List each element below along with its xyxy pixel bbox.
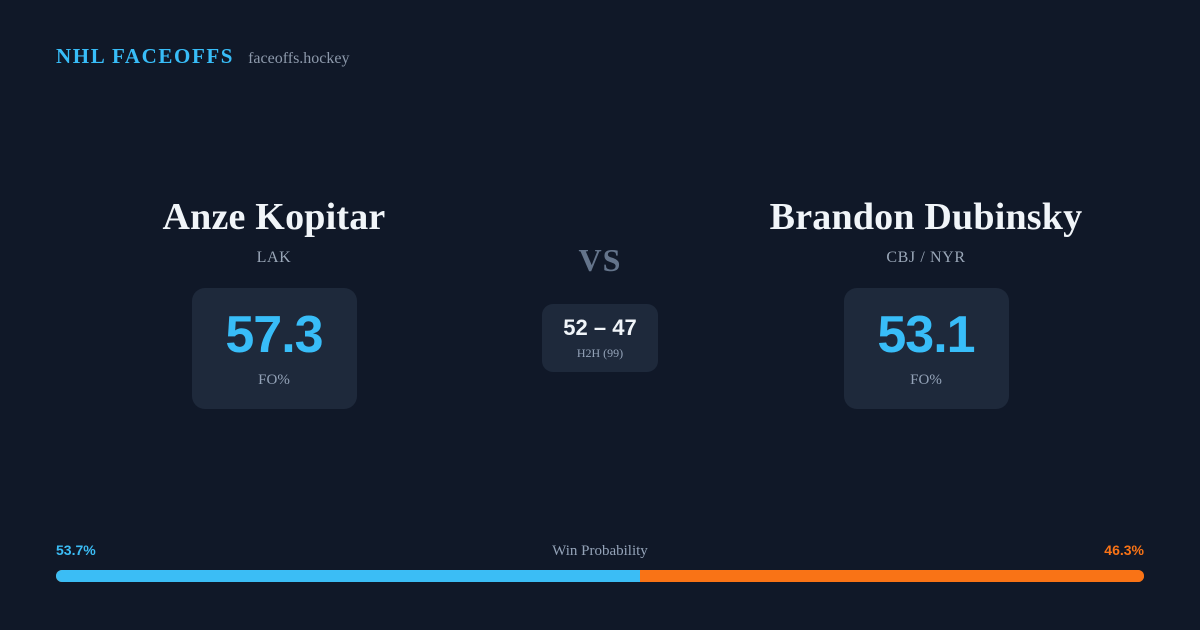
win-probability-section: 53.7% Win Probability 46.3% <box>56 543 1144 582</box>
player-right-faceoff-percent: 53.1 <box>877 309 974 361</box>
head-to-head-score: 52 – 47 <box>563 317 636 339</box>
head-to-head-box: 52 – 47 H2H (99) <box>542 304 658 372</box>
head-to-head-label: H2H (99) <box>577 347 623 359</box>
brand-domain: faceoffs.hockey <box>248 51 349 67</box>
player-right-stat-card: 53.1 FO% <box>844 288 1009 409</box>
player-right-team: CBJ / NYR <box>886 250 965 266</box>
brand-header: NHL FACEOFFS faceoffs.hockey <box>56 46 350 67</box>
win-probability-bar <box>56 570 1144 582</box>
player-right-name: Brandon Dubinsky <box>770 196 1083 240</box>
player-left-name: Anze Kopitar <box>163 196 386 240</box>
win-probability-left-percent: 53.7% <box>56 543 96 557</box>
win-probability-labels: 53.7% Win Probability 46.3% <box>56 543 1144 559</box>
player-left-team: LAK <box>257 250 292 266</box>
win-probability-title: Win Probability <box>552 544 648 559</box>
player-right: Brandon Dubinsky CBJ / NYR 53.1 FO% <box>700 196 1152 409</box>
brand-title: NHL FACEOFFS <box>56 46 234 67</box>
player-left-stat-card: 57.3 FO% <box>192 288 357 409</box>
vs-label: VS <box>579 244 622 276</box>
win-probability-right-percent: 46.3% <box>1104 543 1144 557</box>
matchup-center: VS 52 – 47 H2H (99) <box>500 196 700 372</box>
player-left: Anze Kopitar LAK 57.3 FO% <box>48 196 500 409</box>
player-right-stat-label: FO% <box>910 373 942 388</box>
win-probability-bar-right-fill <box>640 570 1144 582</box>
player-left-stat-label: FO% <box>258 373 290 388</box>
win-probability-bar-left-fill <box>56 570 640 582</box>
player-left-faceoff-percent: 57.3 <box>225 309 322 361</box>
matchup-section: Anze Kopitar LAK 57.3 FO% VS 52 – 47 H2H… <box>0 196 1200 409</box>
